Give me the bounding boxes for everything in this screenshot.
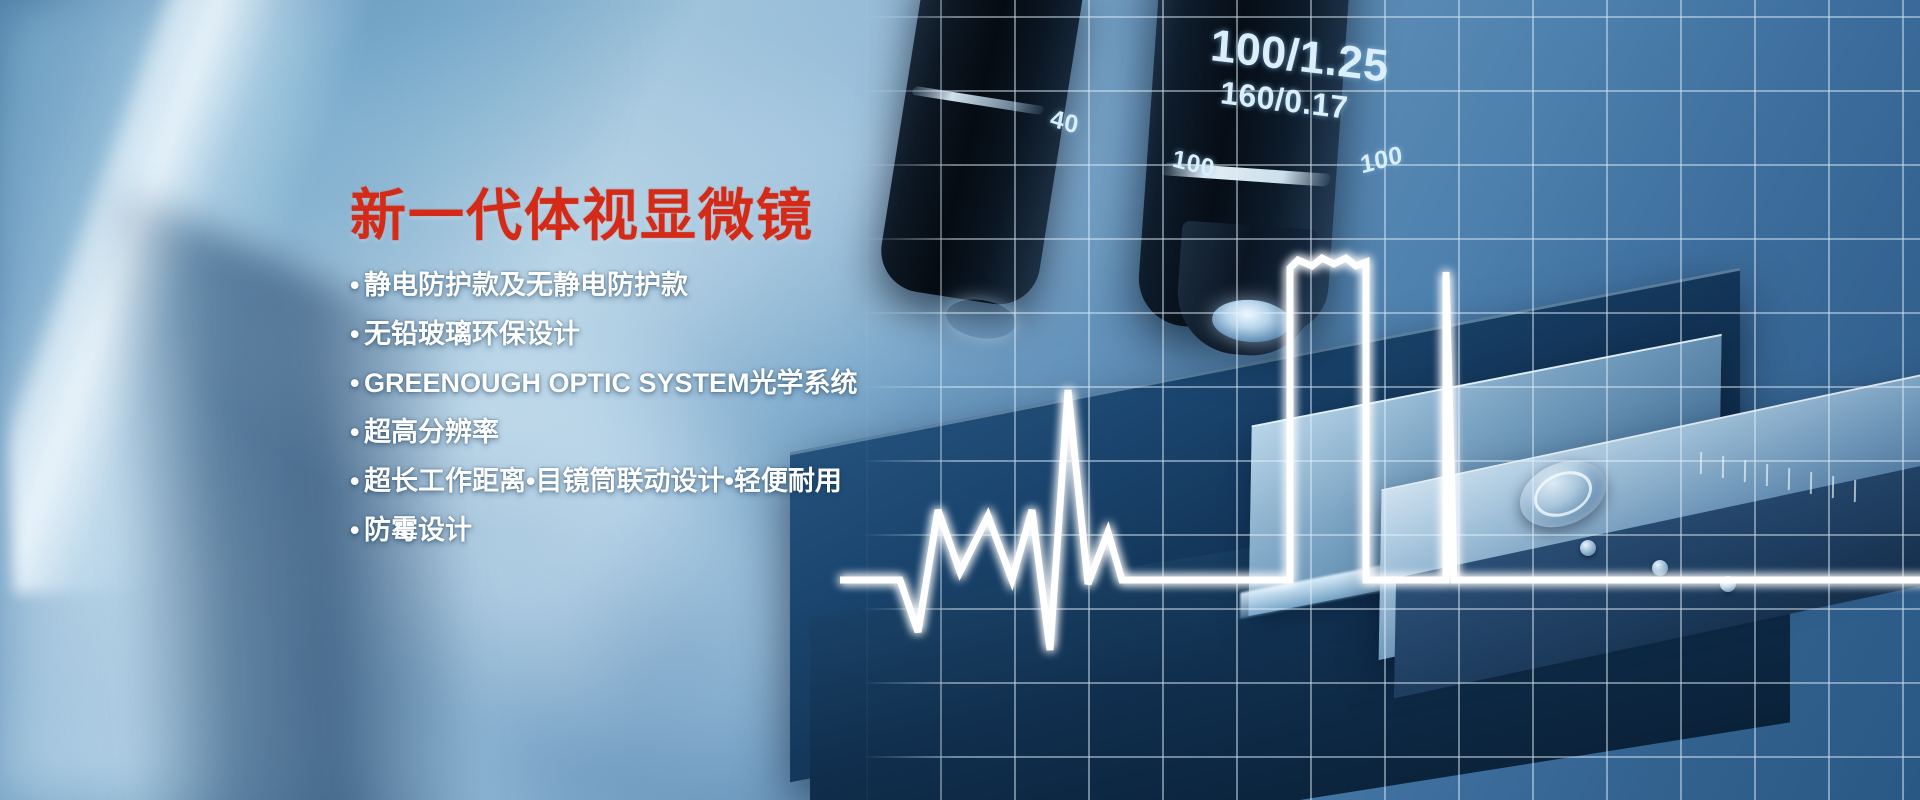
feature-list-item: •GREENOUGH OPTIC SYSTEM光学系统 (350, 370, 970, 397)
bullet-marker-icon: • (350, 468, 363, 495)
feature-list-item: •防霉设计 (350, 517, 970, 544)
waveform-path (840, 258, 1920, 650)
bullet-marker-icon: • (350, 321, 363, 348)
bullet-marker-icon: • (350, 272, 363, 299)
feature-list-item: •超长工作距离•目镜筒联动设计•轻便耐用 (350, 468, 970, 495)
banner-copy: 新一代体视显微镜 •静电防护款及无静电防护款•无铅玻璃环保设计•GREENOUG… (350, 186, 970, 566)
bullet-marker-icon: • (350, 517, 363, 544)
feature-list-item-label: 超长工作距离•目镜筒联动设计•轻便耐用 (364, 468, 842, 495)
feature-list: •静电防护款及无静电防护款•无铅玻璃环保设计•GREENOUGH OPTIC S… (350, 272, 970, 544)
bullet-marker-icon: • (350, 370, 363, 397)
banner-root: 100/1.25 160/0.17 40 100 100 新一代 (0, 0, 1920, 800)
feature-list-item-label: 静电防护款及无静电防护款 (364, 272, 688, 299)
feature-list-item: •无铅玻璃环保设计 (350, 321, 970, 348)
bullet-marker-icon: • (350, 419, 363, 446)
feature-list-item-label: GREENOUGH OPTIC SYSTEM光学系统 (364, 370, 858, 397)
feature-list-item-label: 防霉设计 (364, 517, 472, 544)
feature-list-item-label: 超高分辨率 (364, 419, 499, 446)
ecg-signal-trace (860, 180, 1920, 740)
page-title: 新一代体视显微镜 (350, 186, 970, 246)
feature-list-item: •静电防护款及无静电防护款 (350, 272, 970, 299)
feature-list-item: •超高分辨率 (350, 419, 970, 446)
feature-list-item-label: 无铅玻璃环保设计 (364, 321, 580, 348)
